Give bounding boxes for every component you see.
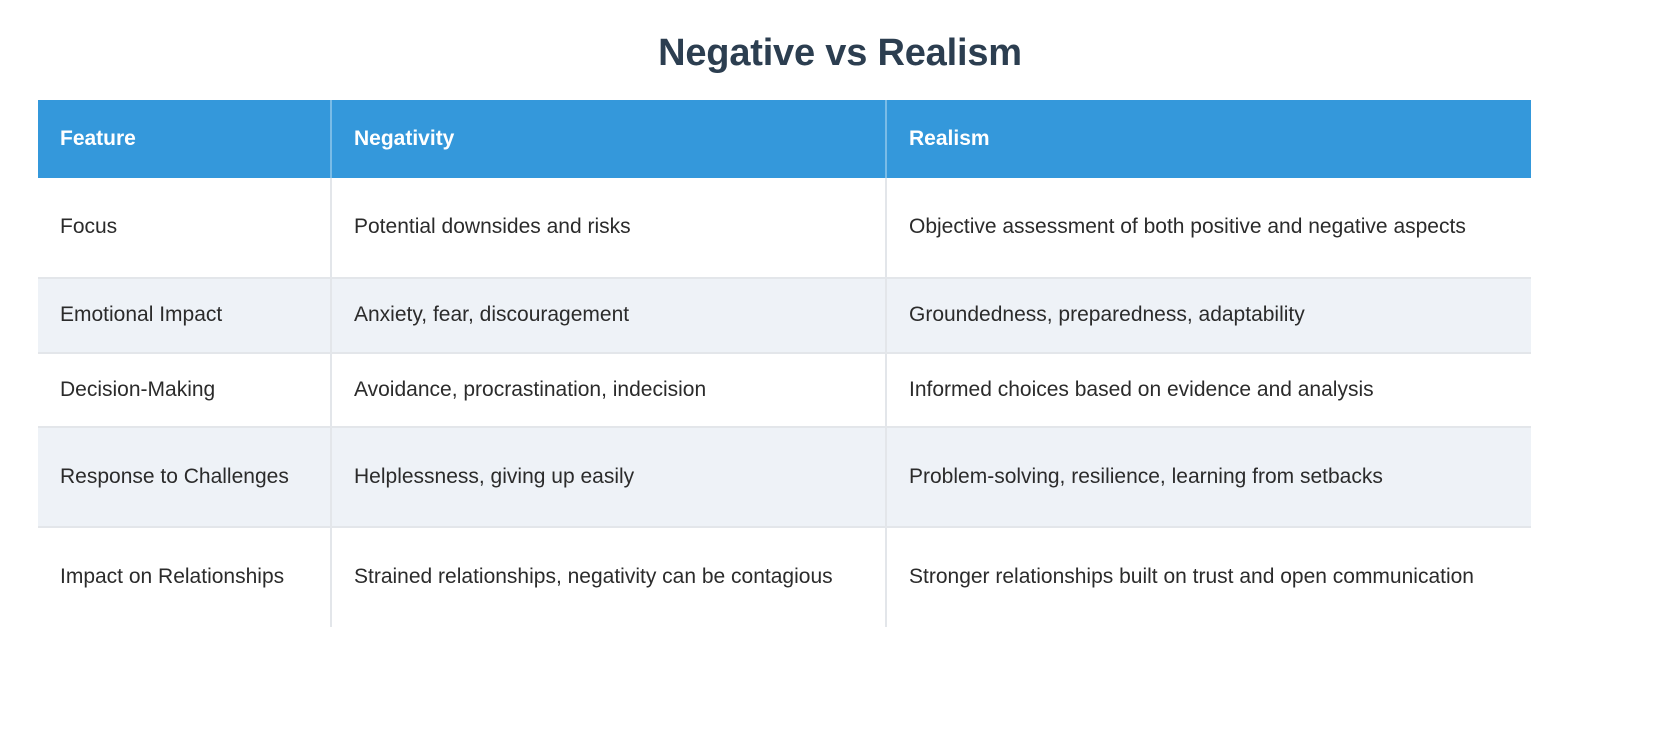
cell-negativity: Strained relationships, negativity can b… (331, 527, 886, 627)
cell-feature: Impact on Relationships (38, 527, 331, 627)
table-row: Response to Challenges Helplessness, giv… (38, 427, 1531, 527)
cell-feature: Response to Challenges (38, 427, 331, 527)
column-header-feature: Feature (38, 100, 331, 178)
cell-feature: Decision-Making (38, 353, 331, 428)
cell-feature: Emotional Impact (38, 278, 331, 353)
cell-realism: Informed choices based on evidence and a… (886, 353, 1531, 428)
table-header-row: Feature Negativity Realism (38, 100, 1531, 178)
cell-feature: Focus (38, 178, 331, 278)
cell-realism: Problem-solving, resilience, learning fr… (886, 427, 1531, 527)
table-row: Focus Potential downsides and risks Obje… (38, 178, 1531, 278)
cell-realism: Stronger relationships built on trust an… (886, 527, 1531, 627)
table-row: Decision-Making Avoidance, procrastinati… (38, 353, 1531, 428)
table-body: Focus Potential downsides and risks Obje… (38, 178, 1531, 627)
cell-negativity: Potential downsides and risks (331, 178, 886, 278)
page-title: Negative vs Realism (0, 0, 1680, 78)
table-header: Feature Negativity Realism (38, 100, 1531, 178)
cell-negativity: Helplessness, giving up easily (331, 427, 886, 527)
column-header-negativity: Negativity (331, 100, 886, 178)
table-row: Impact on Relationships Strained relatio… (38, 527, 1531, 627)
comparison-table: Feature Negativity Realism Focus Potenti… (38, 100, 1531, 627)
comparison-table-container: Feature Negativity Realism Focus Potenti… (38, 100, 1531, 627)
column-header-realism: Realism (886, 100, 1531, 178)
cell-realism: Groundedness, preparedness, adaptability (886, 278, 1531, 353)
page-root: Negative vs Realism Feature Negativity R… (0, 0, 1680, 736)
cell-negativity: Anxiety, fear, discouragement (331, 278, 886, 353)
cell-realism: Objective assessment of both positive an… (886, 178, 1531, 278)
cell-negativity: Avoidance, procrastination, indecision (331, 353, 886, 428)
table-row: Emotional Impact Anxiety, fear, discoura… (38, 278, 1531, 353)
